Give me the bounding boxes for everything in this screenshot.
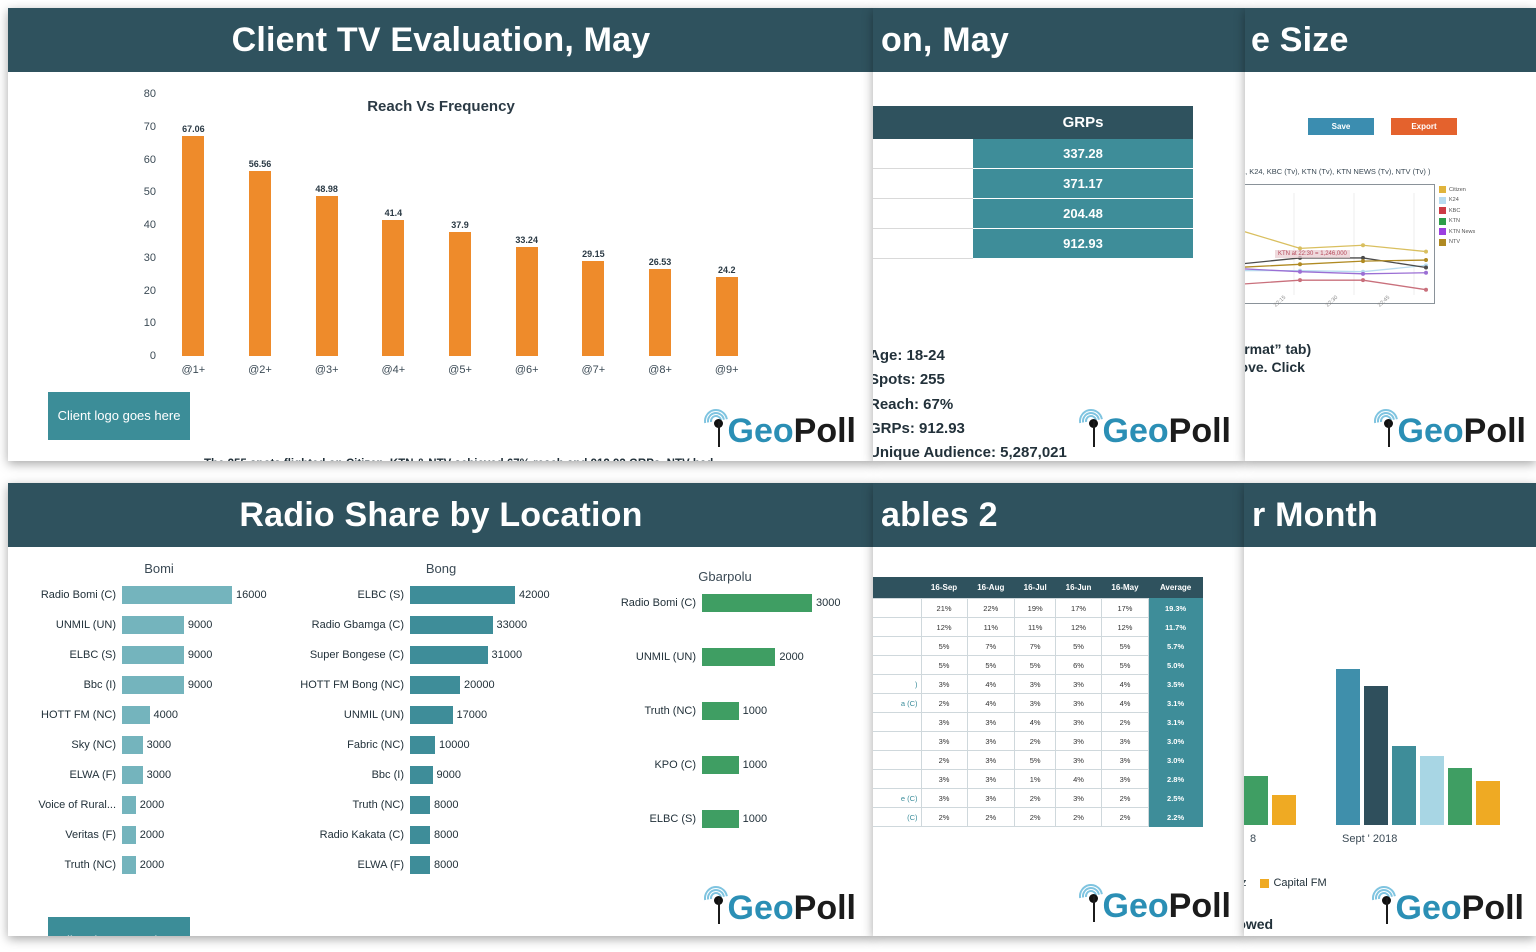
bar-value-label: 8000 — [430, 829, 458, 841]
y-tick-label: 80 — [144, 88, 156, 100]
table-cell: 2.5% — [1149, 789, 1203, 808]
table-row: 204.48 — [873, 199, 1193, 229]
bar-category-label: Truth (NC) — [600, 705, 702, 717]
reach-vs-frequency-chart: 80706050403020100 67.0656.5648.9841.437.… — [160, 94, 760, 356]
summary-stat: Age: 18-24 — [873, 344, 1209, 368]
legend-label: Citizen — [1449, 187, 1466, 193]
bar-category-label: UNMIL (UN) — [296, 709, 410, 721]
slide-title-bar: on, May — [873, 8, 1245, 72]
legend-label: neboyz — [1244, 877, 1246, 889]
brand-geo: Geo — [1398, 415, 1464, 447]
table-cell: 12% — [1101, 618, 1148, 637]
table-cell: 17% — [1056, 599, 1101, 618]
bullet-icon: • — [192, 458, 196, 461]
bar — [1272, 795, 1296, 825]
client-logo-placeholder: Client logo goes here — [48, 917, 190, 936]
y-tick-label: 10 — [144, 317, 156, 329]
bar-category-label: ELWA (F) — [296, 859, 410, 871]
bar-column: 41.4 — [360, 94, 427, 356]
bar — [122, 586, 232, 604]
slide-title-bar: Client TV Evaluation, May — [8, 8, 874, 72]
table-cell: 4% — [1101, 694, 1148, 713]
table-cell: 5.7% — [1149, 637, 1203, 656]
legend-swatch — [1439, 197, 1446, 204]
table-row-label — [873, 732, 921, 751]
bar-category-label: Voice of Rural... — [24, 799, 122, 811]
slide-content: Reach Vs Frequency 80706050403020100 67.… — [8, 72, 874, 461]
table-cell: 2% — [1056, 808, 1101, 827]
table-header-row: 16-Sep16-Aug16-Jul16-Jun16-MayAverage — [873, 577, 1203, 599]
y-tick-label: 40 — [144, 219, 156, 231]
bar — [410, 646, 488, 664]
legend-swatch — [1439, 218, 1446, 225]
client-logo-label: Client logo goes here — [58, 932, 181, 936]
x-tick-label: Sept ' 2018 — [1342, 833, 1397, 845]
chart-legend: neboyzCapital FM — [1244, 877, 1327, 889]
bar — [702, 648, 775, 666]
bar-value-label: 10000 — [435, 739, 470, 751]
legend-label: K24 — [1449, 197, 1459, 203]
bar-value-label: 8000 — [430, 859, 458, 871]
bar-value-label: 8000 — [430, 799, 458, 811]
slide-client-tv-evaluation: Client TV Evaluation, May Reach Vs Frequ… — [8, 8, 874, 461]
bar-row: UNMIL (UN)2000 — [600, 648, 850, 666]
table-cell: 3% — [1101, 770, 1148, 789]
bar-row: ELBC (S)1000 — [600, 810, 850, 828]
bar-category-label: HOTT FM (NC) — [24, 709, 122, 721]
bar — [122, 796, 136, 814]
table-cell: 2% — [1101, 713, 1148, 732]
table-cell: 2% — [967, 808, 1014, 827]
bar-row: Bbc (I)9000 — [296, 766, 586, 784]
bar — [1244, 776, 1268, 825]
x-tick-label: @5+ — [427, 364, 494, 376]
table-cell-label — [873, 199, 973, 229]
table-cell: 5% — [1056, 637, 1101, 656]
geopoll-logo: Geo Poll — [1381, 413, 1526, 447]
bar-row: KPO (C)1000 — [600, 756, 850, 774]
data-point — [1361, 243, 1365, 247]
table-cell: 2% — [921, 808, 967, 827]
slide-content: 8Sept ' 2018 neboyzCapital FM h, followe… — [1244, 547, 1536, 936]
bar — [122, 646, 184, 664]
legend-item: Citizen — [1439, 186, 1475, 193]
table-cell: 19.3% — [1149, 599, 1203, 618]
grps-table: GRPs 337.28 371.17 204.48 912.93 — [873, 106, 1193, 259]
table-row-label — [873, 599, 921, 618]
bar-column: 29.15 — [560, 94, 627, 356]
table-cell: 3% — [921, 675, 967, 694]
table-cell: 4% — [1056, 770, 1101, 789]
client-logo-placeholder: Client logo goes here — [48, 392, 190, 440]
bar — [182, 136, 204, 356]
bar — [410, 826, 430, 844]
table-cell-grp: 912.93 — [973, 229, 1193, 259]
bar — [410, 676, 460, 694]
bar-value-label: 31000 — [488, 649, 523, 661]
table-row: a (C)2%4%3%3%4%3.1% — [873, 694, 1203, 713]
group-title: Bomi — [24, 561, 294, 576]
table-cell: 2% — [1101, 789, 1148, 808]
bar — [582, 261, 604, 356]
brand-geo: Geo — [1396, 892, 1462, 924]
bar — [702, 756, 739, 774]
bar — [122, 856, 136, 874]
slide-note-text: h, followed FM — [1244, 915, 1273, 936]
bar-value-label: 9000 — [184, 649, 212, 661]
brand-poll: Poll — [794, 415, 856, 447]
bar — [410, 856, 430, 874]
bar-column: 37.9 — [427, 94, 494, 356]
table-body: 21%22%19%17%17%19.3%12%11%11%12%12%11.7%… — [873, 599, 1203, 827]
table-cell: 3% — [1056, 675, 1101, 694]
table-cell: 3% — [967, 751, 1014, 770]
table-row: 912.93 — [873, 229, 1193, 259]
table-cell: 3% — [1056, 694, 1101, 713]
bar-value-label: 2000 — [136, 829, 164, 841]
table-cell: 11.7% — [1149, 618, 1203, 637]
radio-share-group-gbarpolu: GbarpoluRadio Bomi (C)3000UNMIL (UN)2000… — [600, 569, 850, 864]
table-header-cell: 16-Sep — [921, 577, 967, 599]
data-point — [1298, 278, 1302, 282]
table-row: 3%3%4%3%2%3.1% — [873, 713, 1203, 732]
table-cell: 12% — [921, 618, 967, 637]
bar-value-label: 67.06 — [182, 124, 205, 134]
x-tick-label: 8 — [1250, 833, 1256, 845]
y-axis-ticks: 80706050403020100 — [126, 94, 156, 356]
x-tick-label: @8+ — [627, 364, 694, 376]
table-row: 371.17 — [873, 169, 1193, 199]
bar-row: Veritas (F)2000 — [24, 826, 294, 844]
radio-share-group-bong: BongELBC (S)42000Radio Gbamga (C)33000Su… — [296, 561, 586, 886]
table-cell: 3% — [1015, 675, 1056, 694]
chart-annotation: KTN at 22:30 = 1,246,000 — [1275, 250, 1350, 258]
table-cell: 3% — [967, 713, 1014, 732]
table-header-blank — [873, 106, 973, 139]
table-header-grps: GRPs — [973, 106, 1193, 139]
table-cell: 2% — [921, 751, 967, 770]
legend-item: K24 — [1439, 197, 1475, 204]
table-cell: 3.0% — [1149, 751, 1203, 770]
slide-content: 16-Sep16-Aug16-Jul16-Jun16-MayAverage 21… — [873, 547, 1245, 936]
summary-stat: Spots: 255 — [873, 368, 1209, 392]
table-row-label — [873, 751, 921, 770]
slide-tables-2: ables 2 16-Sep16-Aug16-Jul16-Jun16-MayAv… — [873, 483, 1245, 936]
slide-title-bar: e Size — [1245, 8, 1536, 72]
legend-label: Capital FM — [1273, 877, 1326, 889]
table-row-label — [873, 770, 921, 789]
brand-poll: Poll — [1464, 415, 1526, 447]
bar — [410, 796, 430, 814]
data-point — [1298, 262, 1302, 266]
line-chart-svg — [1245, 185, 1434, 303]
bar-category-label: Super Bongese (C) — [296, 649, 410, 661]
table-cell: 3% — [1101, 732, 1148, 751]
bar-row: Super Bongese (C)31000 — [296, 646, 586, 664]
radio-share-group-bomi: BomiRadio Bomi (C)16000UNMIL (UN)9000ELB… — [24, 561, 294, 886]
table-cell-grp: 371.17 — [973, 169, 1193, 199]
bar-group — [1244, 776, 1296, 825]
bar-row: ELWA (F)8000 — [296, 856, 586, 874]
table-cell: 3.5% — [1149, 675, 1203, 694]
slide-per-month: r Month 8Sept ' 2018 neboyzCapital FM h,… — [1244, 483, 1536, 936]
page-title: Client TV Evaluation, May — [232, 21, 651, 60]
data-point — [1361, 278, 1365, 282]
bar — [122, 766, 143, 784]
bar — [410, 736, 435, 754]
x-tick-label: @6+ — [493, 364, 560, 376]
bar-category-label: KPO (C) — [600, 759, 702, 771]
table-row-label — [873, 713, 921, 732]
bar — [122, 616, 184, 634]
geopoll-logo: Geo Poll — [1086, 888, 1231, 922]
table-cell: 2% — [1101, 808, 1148, 827]
table-cell: 3% — [1056, 751, 1101, 770]
brand-poll: Poll — [1169, 415, 1231, 447]
brand-geo: Geo — [1103, 890, 1169, 922]
bar — [1476, 781, 1500, 825]
bar — [122, 706, 150, 724]
table-cell: 17% — [1101, 599, 1148, 618]
table-row: 3%3%2%3%3%3.0% — [873, 732, 1203, 751]
bar — [1364, 686, 1388, 825]
bar-value-label: 3000 — [143, 739, 171, 751]
bar-value-label: 24.2 — [718, 265, 736, 275]
table-row: 5%7%7%5%5%5.7% — [873, 637, 1203, 656]
bar-category-label: ELBC (S) — [24, 649, 122, 661]
x-tick-label: @4+ — [360, 364, 427, 376]
bar-category-label: Radio Bomi (C) — [24, 589, 122, 601]
table-header-blank — [873, 577, 921, 599]
bar-series: 67.0656.5648.9841.437.933.2429.1526.5324… — [160, 94, 760, 356]
table-cell: 3% — [1015, 694, 1056, 713]
table-cell: 3% — [967, 770, 1014, 789]
table-row-label — [873, 618, 921, 637]
bar-value-label: 1000 — [739, 813, 767, 825]
slide-content: BomiRadio Bomi (C)16000UNMIL (UN)9000ELB… — [8, 547, 874, 936]
table-header-cell: 16-May — [1101, 577, 1148, 599]
table-cell: 11% — [967, 618, 1014, 637]
bar — [702, 810, 739, 828]
slide-radio-share-by-location: Radio Share by Location BomiRadio Bomi (… — [8, 483, 874, 936]
antenna-icon — [711, 413, 727, 447]
table-row: 21%22%19%17%17%19.3% — [873, 599, 1203, 618]
table-row: 12%11%11%12%12%11.7% — [873, 618, 1203, 637]
y-tick-label: 0 — [150, 350, 156, 362]
table-row: 2%3%5%3%3%3.0% — [873, 751, 1203, 770]
bar-value-label: 9000 — [184, 679, 212, 691]
x-tick-label: @2+ — [227, 364, 294, 376]
bar — [449, 232, 471, 356]
table-cell-label — [873, 169, 973, 199]
x-tick-label: @1+ — [160, 364, 227, 376]
bar-row: Radio Bomi (C)16000 — [24, 586, 294, 604]
table-cell: 3% — [921, 770, 967, 789]
bar-category-label: Radio Kakata (C) — [296, 829, 410, 841]
bar-column: 33.24 — [493, 94, 560, 356]
table-cell: 7% — [967, 637, 1014, 656]
audience-size-chart — [1245, 184, 1435, 304]
y-tick-label: 50 — [144, 186, 156, 198]
page-title: ables 2 — [881, 496, 998, 535]
data-point — [1424, 250, 1428, 254]
antenna-icon — [1381, 413, 1397, 447]
bar-category-label: Veritas (F) — [24, 829, 122, 841]
table-cell: 5% — [921, 637, 967, 656]
bar-category-label: ELBC (S) — [600, 813, 702, 825]
table-cell: 3% — [1056, 713, 1101, 732]
bar-value-label: 56.56 — [249, 159, 272, 169]
group-title: Bong — [296, 561, 586, 576]
bar-category-label: Bbc (I) — [24, 679, 122, 691]
line-series — [1245, 260, 1426, 271]
bar-row: ELBC (S)42000 — [296, 586, 586, 604]
bar-value-label: 29.15 — [582, 249, 605, 259]
legend-swatch — [1439, 239, 1446, 246]
table-cell: 5% — [967, 656, 1014, 675]
table-row: e (C)3%3%2%3%2%2.5% — [873, 789, 1203, 808]
data-point — [1298, 270, 1302, 274]
table-row-label: (C) — [873, 808, 921, 827]
save-button[interactable]: Save — [1308, 118, 1374, 135]
legend-label: NTV — [1449, 239, 1460, 245]
bar — [382, 220, 404, 356]
geopoll-logo: Geo Poll — [711, 890, 856, 924]
legend-swatch — [1439, 207, 1446, 214]
legend-item: Capital FM — [1260, 877, 1326, 889]
brand-geo: Geo — [728, 892, 794, 924]
bar-value-label: 2000 — [775, 651, 803, 663]
legend-swatch — [1260, 879, 1269, 888]
table-cell: 3% — [921, 789, 967, 808]
bar — [410, 586, 515, 604]
bar-category-label: Radio Gbamga (C) — [296, 619, 410, 631]
table-cell: 4% — [1015, 713, 1056, 732]
data-point — [1424, 265, 1428, 269]
bar-value-label: 2000 — [136, 799, 164, 811]
group-title: Gbarpolu — [600, 569, 850, 584]
slide-title-bar: Radio Share by Location — [8, 483, 874, 547]
table-cell: 21% — [921, 599, 967, 618]
y-tick-label: 30 — [144, 252, 156, 264]
bar — [1392, 746, 1416, 825]
slide-bullet-text: • The 255 spots flighted on Citizen, KTN… — [204, 457, 724, 461]
bar-category-label: ELWA (F) — [24, 769, 122, 781]
bar — [410, 706, 453, 724]
bar-value-label: 26.53 — [649, 257, 672, 267]
table-body: 337.28 371.17 204.48 912.93 — [873, 139, 1193, 259]
page-title: r Month — [1252, 496, 1378, 535]
data-point — [1424, 258, 1428, 262]
slide-grps-table: on, May GRPs 337.28 371.17 204.48 912.93… — [873, 8, 1245, 461]
bar-value-label: 33.24 — [515, 235, 538, 245]
table-header-row: GRPs — [873, 106, 1193, 139]
x-tick-label: @3+ — [293, 364, 360, 376]
bar-row: Voice of Rural...2000 — [24, 796, 294, 814]
bar — [702, 594, 812, 612]
slide-content: GRPs 337.28 371.17 204.48 912.93 Age: 18… — [873, 72, 1245, 461]
table-row: 337.28 — [873, 139, 1193, 169]
bar — [122, 826, 136, 844]
x-axis-ticks: 22:0022:1522:3022:45 — [1245, 304, 1433, 330]
table-cell: 3% — [967, 732, 1014, 751]
bar-value-label: 9000 — [184, 619, 212, 631]
legend-item: neboyz — [1244, 877, 1246, 889]
table-cell-label — [873, 139, 973, 169]
table-row-label — [873, 656, 921, 675]
slide-title-bar: ables 2 — [873, 483, 1245, 547]
antenna-icon — [1379, 890, 1395, 924]
y-tick-label: 60 — [144, 154, 156, 166]
table-cell: 2.2% — [1149, 808, 1203, 827]
table-cell: 5% — [1015, 751, 1056, 770]
bar — [122, 736, 143, 754]
table-cell: 12% — [1056, 618, 1101, 637]
bar-row: Truth (NC)1000 — [600, 702, 850, 720]
bar-row: HOTT FM (NC)4000 — [24, 706, 294, 724]
bar-row: UNMIL (UN)17000 — [296, 706, 586, 724]
page-title: on, May — [881, 21, 1009, 60]
bullet-label: The 255 spots flighted on Citizen, KTN &… — [204, 458, 713, 461]
legend-label: KTN — [1449, 218, 1460, 224]
bar-value-label: 1000 — [739, 705, 767, 717]
bar-category-label: Truth (NC) — [296, 799, 410, 811]
export-button[interactable]: Export — [1391, 118, 1457, 135]
antenna-icon — [1086, 888, 1102, 922]
bar-category-label: Sky (NC) — [24, 739, 122, 751]
bar — [716, 277, 738, 356]
legend-label: KTN News — [1449, 229, 1475, 235]
table-cell: 5% — [921, 656, 967, 675]
table-row: )3%4%3%3%4%3.5% — [873, 675, 1203, 694]
table-cell: 2% — [1015, 732, 1056, 751]
bar — [516, 247, 538, 356]
legend-item: KTN News — [1439, 228, 1475, 235]
bar-value-label: 20000 — [460, 679, 495, 691]
bar-value-label: 2000 — [136, 859, 164, 871]
bar-category-label: Fabric (NC) — [296, 739, 410, 751]
bar-category-label: UNMIL (UN) — [600, 651, 702, 663]
data-point — [1424, 288, 1428, 292]
brand-poll: Poll — [1169, 890, 1231, 922]
bar — [649, 269, 671, 356]
table-cell: 7% — [1015, 637, 1056, 656]
table-cell: 11% — [1015, 618, 1056, 637]
bar — [122, 676, 184, 694]
legend-label: KBC — [1449, 208, 1460, 214]
bar-value-label: 9000 — [433, 769, 461, 781]
table-header-cell: 16-Jun — [1056, 577, 1101, 599]
table-cell: 2% — [921, 694, 967, 713]
bar-category-label: Bbc (I) — [296, 769, 410, 781]
table-cell-grp: 337.28 — [973, 139, 1193, 169]
bar-row: HOTT FM Bong (NC)20000 — [296, 676, 586, 694]
bar-category-label: HOTT FM Bong (NC) — [296, 679, 410, 691]
table-row: 3%3%1%4%3%2.8% — [873, 770, 1203, 789]
bar-row: Bbc (I)9000 — [24, 676, 294, 694]
y-tick-label: 70 — [144, 121, 156, 133]
geopoll-logo: Geo Poll — [1379, 890, 1524, 924]
page-title: Radio Share by Location — [239, 496, 642, 535]
bar-value-label: 17000 — [453, 709, 488, 721]
per-month-chart: 8Sept ' 2018 — [1244, 657, 1484, 825]
bar-row: Radio Bomi (C)3000 — [600, 594, 850, 612]
table-cell-label — [873, 229, 973, 259]
table-row-label: e (C) — [873, 789, 921, 808]
bar — [316, 196, 338, 356]
bar-row: Truth (NC)8000 — [296, 796, 586, 814]
bar — [702, 702, 739, 720]
